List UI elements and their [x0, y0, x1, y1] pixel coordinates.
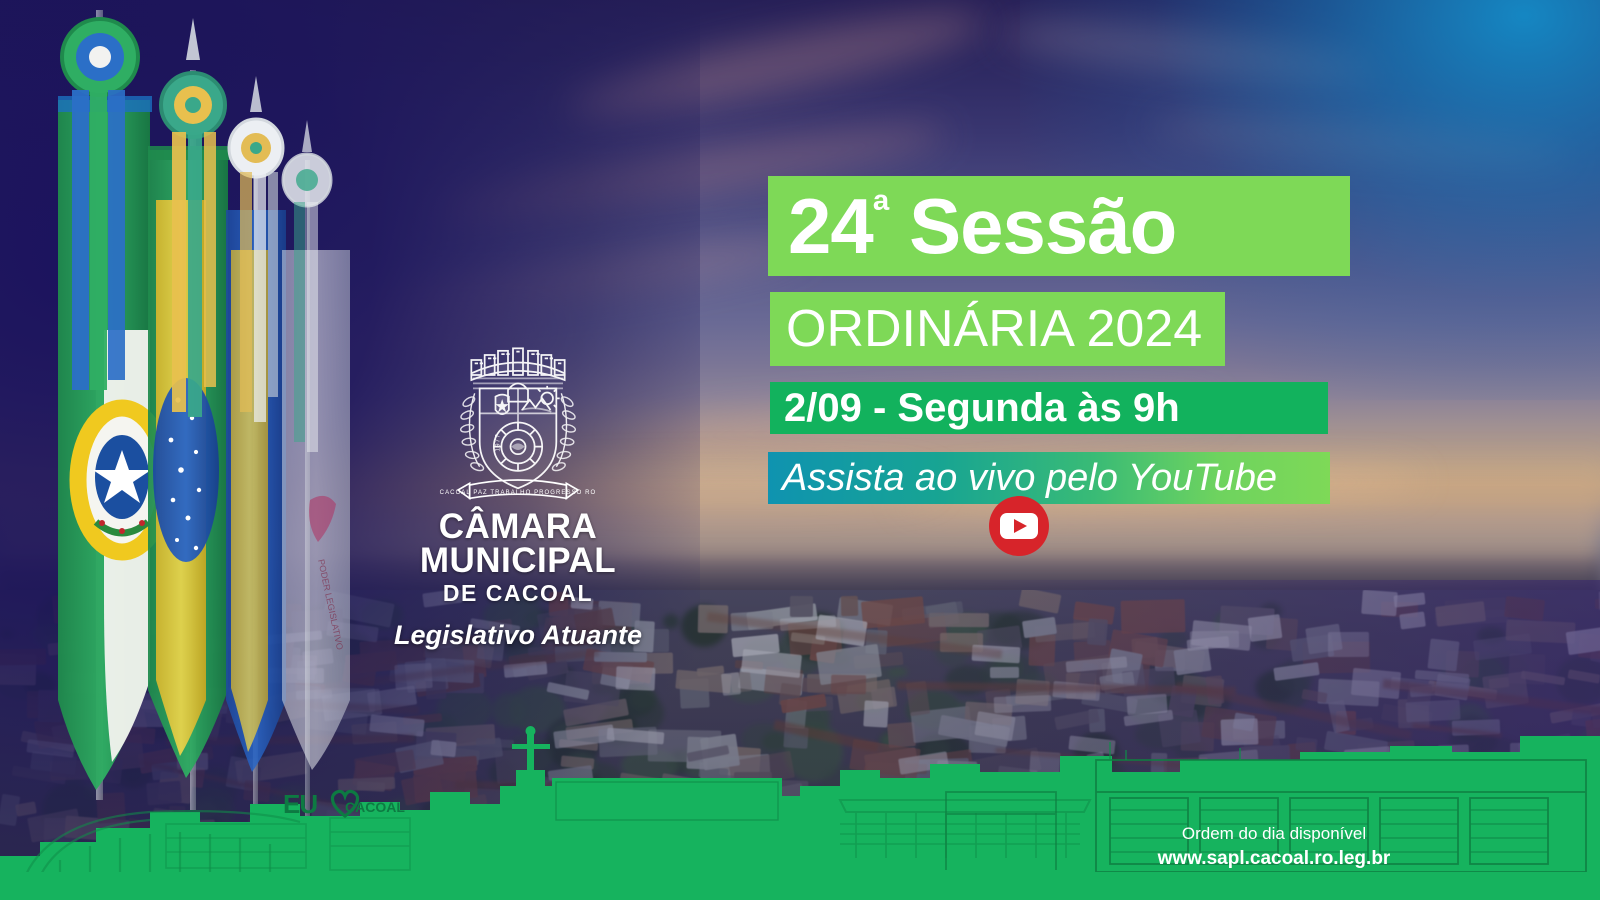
- youtube-play-icon[interactable]: [989, 502, 1049, 550]
- logo-line-2: MUNICIPAL: [380, 544, 656, 578]
- footer-block: Ordem do dia disponível www.sapl.cacoal.…: [1018, 823, 1530, 872]
- logo-line-1: CÂMARA: [380, 510, 656, 544]
- rosette: [161, 73, 225, 137]
- monument-eu-text: EU: [283, 789, 317, 820]
- coat-of-arms-icon: 1977: [433, 335, 603, 510]
- headline-text: 24ª Sessão: [768, 187, 1176, 265]
- headline-banner: 24ª Sessão: [768, 176, 1350, 276]
- rosette: [229, 119, 283, 177]
- rosette: [283, 154, 331, 206]
- rosette: [62, 19, 138, 95]
- flags-illustration: PODER LEGISLATIVO: [0, 0, 400, 830]
- date-banner: 2/09 - Segunda às 9h: [770, 382, 1328, 434]
- session-number: 24: [788, 182, 873, 270]
- flag-group: PODER LEGISLATIVO: [0, 0, 400, 830]
- footer-line-2[interactable]: www.sapl.cacoal.ro.leg.br: [1018, 846, 1530, 872]
- subtitle-text: ORDINÁRIA 2024: [770, 303, 1202, 355]
- date-text: 2/09 - Segunda às 9h: [770, 388, 1180, 428]
- logo-block: 1977: [380, 335, 656, 651]
- svg-text:1977: 1977: [495, 434, 502, 452]
- youtube-triangle: [1014, 519, 1027, 533]
- headline-word: [888, 182, 909, 270]
- session-word: Sessão: [909, 182, 1176, 270]
- logo-line-3: DE CACOAL: [380, 579, 656, 608]
- live-banner[interactable]: Assista ao vivo pelo YouTube: [768, 452, 1330, 504]
- subtitle-banner: ORDINÁRIA 2024: [770, 292, 1225, 366]
- live-text: Assista ao vivo pelo YouTube: [768, 459, 1277, 497]
- poster-canvas: PODER LEGISLATIVO: [0, 0, 1600, 900]
- purple-cast: [880, 580, 1600, 810]
- footer-line-1: Ordem do dia disponível: [1018, 823, 1530, 846]
- crest-motto: CACOAL PAZ TRABALHO PROGRESSO RO: [440, 490, 597, 496]
- monument-city-text: CACOAL: [345, 799, 405, 815]
- ordinal-suffix: ª: [873, 185, 889, 236]
- logo-slogan: Legislativo Atuante: [380, 620, 656, 651]
